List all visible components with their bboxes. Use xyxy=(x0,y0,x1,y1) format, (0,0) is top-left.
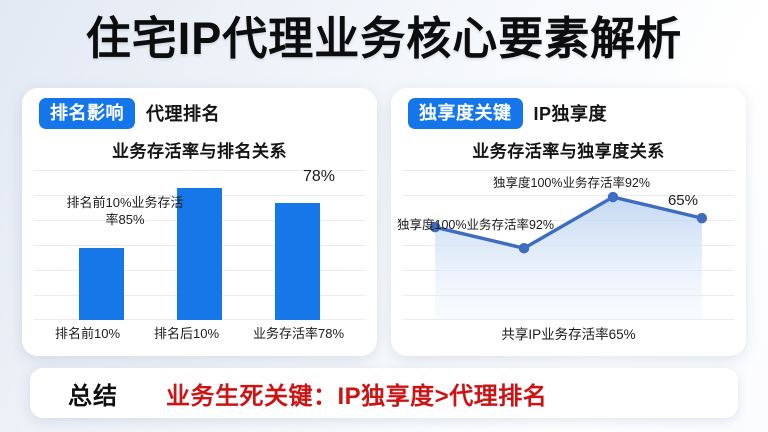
chart-title-ranking: 业务存活率与排名关系 xyxy=(34,137,365,162)
badge-exclusivity-key: 独享度关键 xyxy=(408,98,523,129)
line-chart-xaxis-label: 共享IP业务存活率65% xyxy=(403,323,734,343)
slide-root: 住宅IP代理业务核心要素解析 排名影响 代理排名 业务存活率与排名关系 xyxy=(0,0,768,432)
page-title: 住宅IP代理业务核心要素解析 xyxy=(0,12,768,66)
card-exclusivity-subject: IP独享度 xyxy=(534,100,608,126)
card-exclusivity-header: 独享度关键 IP独享度 xyxy=(403,98,734,128)
line-annotation-left: 独享度100%业务存活率92% xyxy=(397,214,554,233)
bar-slot-1 xyxy=(70,170,132,320)
card-ranking: 排名影响 代理排名 业务存活率与排名关系 xyxy=(22,88,377,356)
summary-bar: 总结 业务生死关键：IP独享度>代理排名 xyxy=(30,368,738,418)
xtick-ranking-top10: 排名前10% xyxy=(55,323,120,342)
line-annotation-top: 独享度100%业务存活率92% xyxy=(493,172,650,191)
line-value-label-65: 65% xyxy=(668,192,698,209)
chart-title-exclusivity: 业务存活率与独享度关系 xyxy=(403,137,734,162)
line-chart-plot: 独享度100%业务存活率92% 独享度100%业务存活率92% 65% xyxy=(403,170,734,320)
bar-slot-3 xyxy=(267,170,329,320)
bar-chart-xaxis: 排名前10% 排名后10% 业务存活率78% xyxy=(34,323,365,342)
bar-chart-plot: 排名前10%业务存活 率85% 78% xyxy=(34,170,365,320)
bar-annotation-top10: 排名前10%业务存活 率85% xyxy=(30,194,220,228)
card-ranking-header: 排名影响 代理排名 xyxy=(34,98,365,128)
badge-ranking-impact: 排名影响 xyxy=(39,98,135,129)
cards-row: 排名影响 代理排名 业务存活率与排名关系 xyxy=(22,88,746,356)
bar-survival-78 xyxy=(275,203,320,320)
card-exclusivity: 独享度关键 IP独享度 业务存活率与独享度关系 xyxy=(391,88,746,356)
line-point-3 xyxy=(608,192,618,202)
line-point-2 xyxy=(519,243,529,253)
bar-series xyxy=(34,170,365,320)
bar-slot-2 xyxy=(168,170,230,320)
xtick-ranking-bottom10: 排名后10% xyxy=(154,323,219,342)
bar-value-label-78: 78% xyxy=(303,168,335,186)
summary-label: 总结 xyxy=(68,376,118,411)
summary-text: 业务生死关键：IP独享度>代理排名 xyxy=(166,376,547,411)
xtick-survival-78: 业务存活率78% xyxy=(253,323,344,342)
card-ranking-subject: 代理排名 xyxy=(146,100,220,126)
line-point-4 xyxy=(697,213,707,223)
bar-ranking-top10 xyxy=(79,248,124,320)
